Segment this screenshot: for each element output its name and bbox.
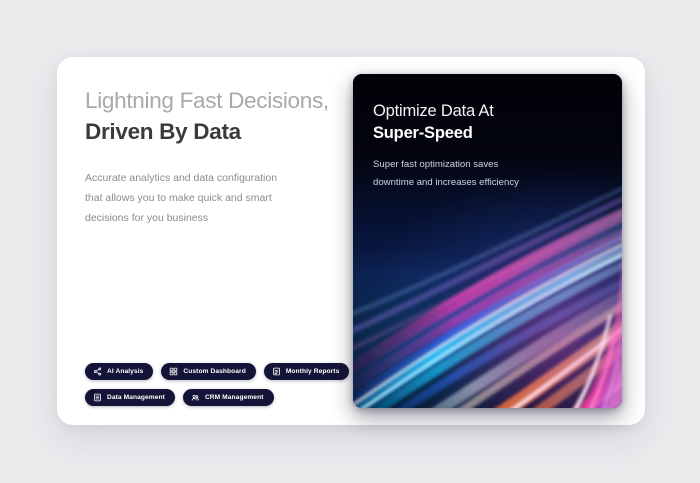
promo-title-line-1: Optimize Data At: [373, 100, 606, 122]
feature-tag-row-2: Data Management CRM Management: [85, 389, 353, 406]
promo-subtitle: Super fast optimization saves downtime a…: [373, 144, 606, 192]
promo-panel: Optimize Data At Super-Speed Super fast …: [353, 74, 622, 408]
feature-tag-row-1: AI Analysis Custom Dashboard: [85, 363, 353, 380]
dashboard-grid-icon: [169, 367, 178, 376]
tag-data-management[interactable]: Data Management: [85, 389, 175, 406]
tag-ai-analysis[interactable]: AI Analysis: [85, 363, 153, 380]
share-nodes-icon: [93, 367, 102, 376]
tag-label: Custom Dashboard: [183, 368, 245, 375]
promo-subtitle-line-1: Super fast optimization saves: [373, 156, 606, 174]
body-copy-line-1: Accurate analytics and data configuratio…: [85, 168, 353, 188]
light-speed-streaks-artwork: [353, 168, 622, 408]
report-document-icon: [272, 367, 281, 376]
tag-label: Monthly Reports: [286, 368, 340, 375]
tag-label: AI Analysis: [107, 368, 143, 375]
tag-label: CRM Management: [205, 394, 264, 401]
tag-crm-management[interactable]: CRM Management: [183, 389, 274, 406]
users-group-icon: [191, 393, 200, 402]
body-copy-line-3: decisions for you business: [85, 208, 353, 228]
promo-title: Optimize Data At Super-Speed: [373, 100, 606, 144]
promo-text-block: Optimize Data At Super-Speed Super fast …: [373, 100, 606, 192]
promo-title-line-2: Super-Speed: [373, 122, 606, 144]
page-title: Lightning Fast Decisions, Driven By Data: [85, 85, 353, 147]
tag-custom-dashboard[interactable]: Custom Dashboard: [161, 363, 255, 380]
promo-subtitle-line-2: downtime and increases efficiency: [373, 174, 606, 192]
headline-line-1: Lightning Fast Decisions,: [85, 85, 353, 116]
tag-label: Data Management: [107, 394, 165, 401]
database-list-icon: [93, 393, 102, 402]
headline-line-2: Driven By Data: [85, 116, 353, 147]
left-content-pane: Lightning Fast Decisions, Driven By Data…: [85, 85, 353, 397]
feature-tag-list: AI Analysis Custom Dashboard: [85, 363, 353, 415]
body-copy-line-2: that allows you to make quick and smart: [85, 188, 353, 208]
body-copy: Accurate analytics and data configuratio…: [85, 147, 353, 228]
feature-card: Lightning Fast Decisions, Driven By Data…: [57, 57, 645, 425]
tag-monthly-reports[interactable]: Monthly Reports: [264, 363, 350, 380]
